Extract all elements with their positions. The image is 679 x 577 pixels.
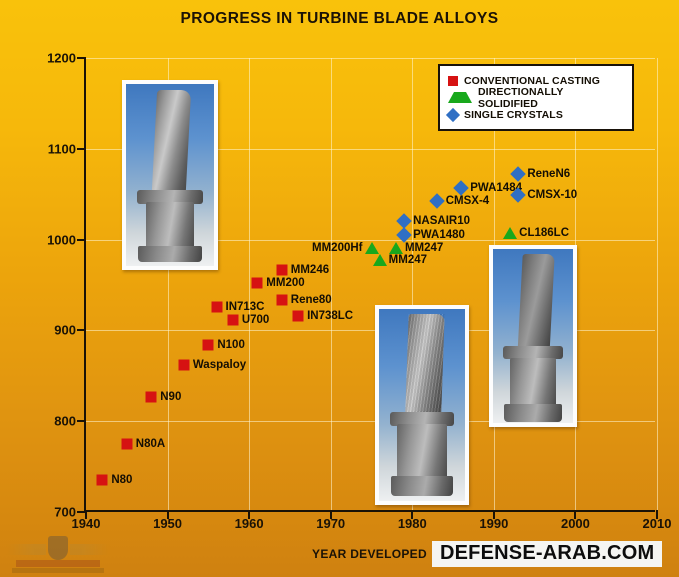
- legend-label: DIRECTIONALLY SOLIDIFIED: [478, 86, 624, 110]
- data-point-marker: [178, 359, 189, 370]
- y-axis-tick: [77, 148, 86, 150]
- x-axis-tick-label: 1980: [398, 516, 427, 531]
- legend: CONVENTIONAL CASTING DIRECTIONALLY SOLID…: [438, 64, 634, 131]
- x-axis-tick-label: 1970: [316, 516, 345, 531]
- defense-arab-logo-icon: [6, 536, 110, 574]
- y-axis-tick-label: 1200: [32, 51, 76, 66]
- data-point-marker: [203, 339, 214, 350]
- data-point-label: N80A: [136, 438, 165, 450]
- y-axis-tick-label: 900: [32, 323, 76, 338]
- data-point-label: Waspaloy: [193, 359, 246, 371]
- y-axis-tick-label: 800: [32, 414, 76, 429]
- data-point-label: N80: [111, 474, 132, 486]
- data-point-marker: [211, 301, 222, 312]
- data-point-label: ReneN6: [527, 168, 570, 180]
- gridline-horizontal: [86, 58, 655, 59]
- chart-title: PROGRESS IN TURBINE BLADE ALLOYS: [0, 10, 679, 28]
- x-axis-tick-label: 2010: [643, 516, 672, 531]
- data-point-marker: [121, 438, 132, 449]
- legend-item-directionally-solidified: DIRECTIONALLY SOLIDIFIED: [448, 89, 624, 106]
- data-point-label: MM247: [405, 242, 443, 254]
- y-axis-tick: [77, 420, 86, 422]
- turbine-blade-alloy-chart: PROGRESS IN TURBINE BLADE ALLOYS 1940195…: [0, 0, 679, 577]
- red-square-icon: [448, 76, 458, 86]
- data-point-label: NASAIR10: [413, 215, 470, 227]
- data-point-marker: [429, 194, 445, 210]
- single-crystal-blade-photo: [489, 245, 577, 427]
- data-point-marker: [97, 475, 108, 486]
- site-watermark: DEFENSE-ARAB.COM: [432, 541, 662, 567]
- data-point-label: MM200Hf: [312, 242, 362, 254]
- data-point-label: CMSX-4: [446, 195, 489, 207]
- blue-diamond-icon: [446, 107, 460, 121]
- data-point-marker: [293, 310, 304, 321]
- data-point-label: N90: [160, 391, 181, 403]
- conventional-cast-blade-photo: [122, 80, 218, 270]
- x-axis-tick-label: 1960: [235, 516, 264, 531]
- data-point-label: MM247: [389, 254, 427, 266]
- data-point-marker: [396, 214, 412, 230]
- data-point-label: MM200: [266, 277, 304, 289]
- x-axis-tick-label: 1990: [479, 516, 508, 531]
- data-point-marker: [227, 314, 238, 325]
- data-point-marker: [276, 294, 287, 305]
- data-point-label: CL186LC: [519, 227, 569, 239]
- data-point-label: CMSX-10: [527, 189, 577, 201]
- directionally-solidified-blade-photo: [375, 305, 469, 505]
- gridline-vertical: [249, 58, 250, 510]
- data-point-marker: [453, 180, 469, 196]
- y-axis-tick: [77, 57, 86, 59]
- data-point-label: MM246: [291, 264, 329, 276]
- data-point-label: IN713C: [226, 301, 265, 313]
- data-point-marker: [511, 166, 527, 182]
- x-axis-tick-label: 1950: [153, 516, 182, 531]
- data-point-label: Rene80: [291, 294, 332, 306]
- data-point-marker: [252, 278, 263, 289]
- green-triangle-icon: [448, 92, 472, 103]
- gridline-vertical: [657, 58, 658, 510]
- legend-label: SINGLE CRYSTALS: [464, 109, 563, 121]
- y-axis-tick: [77, 511, 86, 513]
- data-point-label: N100: [217, 339, 245, 351]
- y-axis-tick: [77, 329, 86, 331]
- data-point-marker: [276, 264, 287, 275]
- data-point-marker: [146, 391, 157, 402]
- data-point-marker: [365, 242, 379, 254]
- data-point-label: IN738LC: [307, 310, 353, 322]
- x-axis-tick-label: 2000: [561, 516, 590, 531]
- y-axis-tick-label: 1100: [32, 141, 76, 156]
- data-point-label: U700: [242, 314, 270, 326]
- data-point-label: PWA1480: [413, 229, 465, 241]
- y-axis-tick: [77, 239, 86, 241]
- data-point-marker: [373, 254, 387, 266]
- gridline-vertical: [331, 58, 332, 510]
- data-point-marker: [503, 227, 517, 239]
- data-point-marker: [389, 242, 403, 254]
- y-axis-tick-label: 1000: [32, 232, 76, 247]
- y-axis-tick-label: 700: [32, 505, 76, 520]
